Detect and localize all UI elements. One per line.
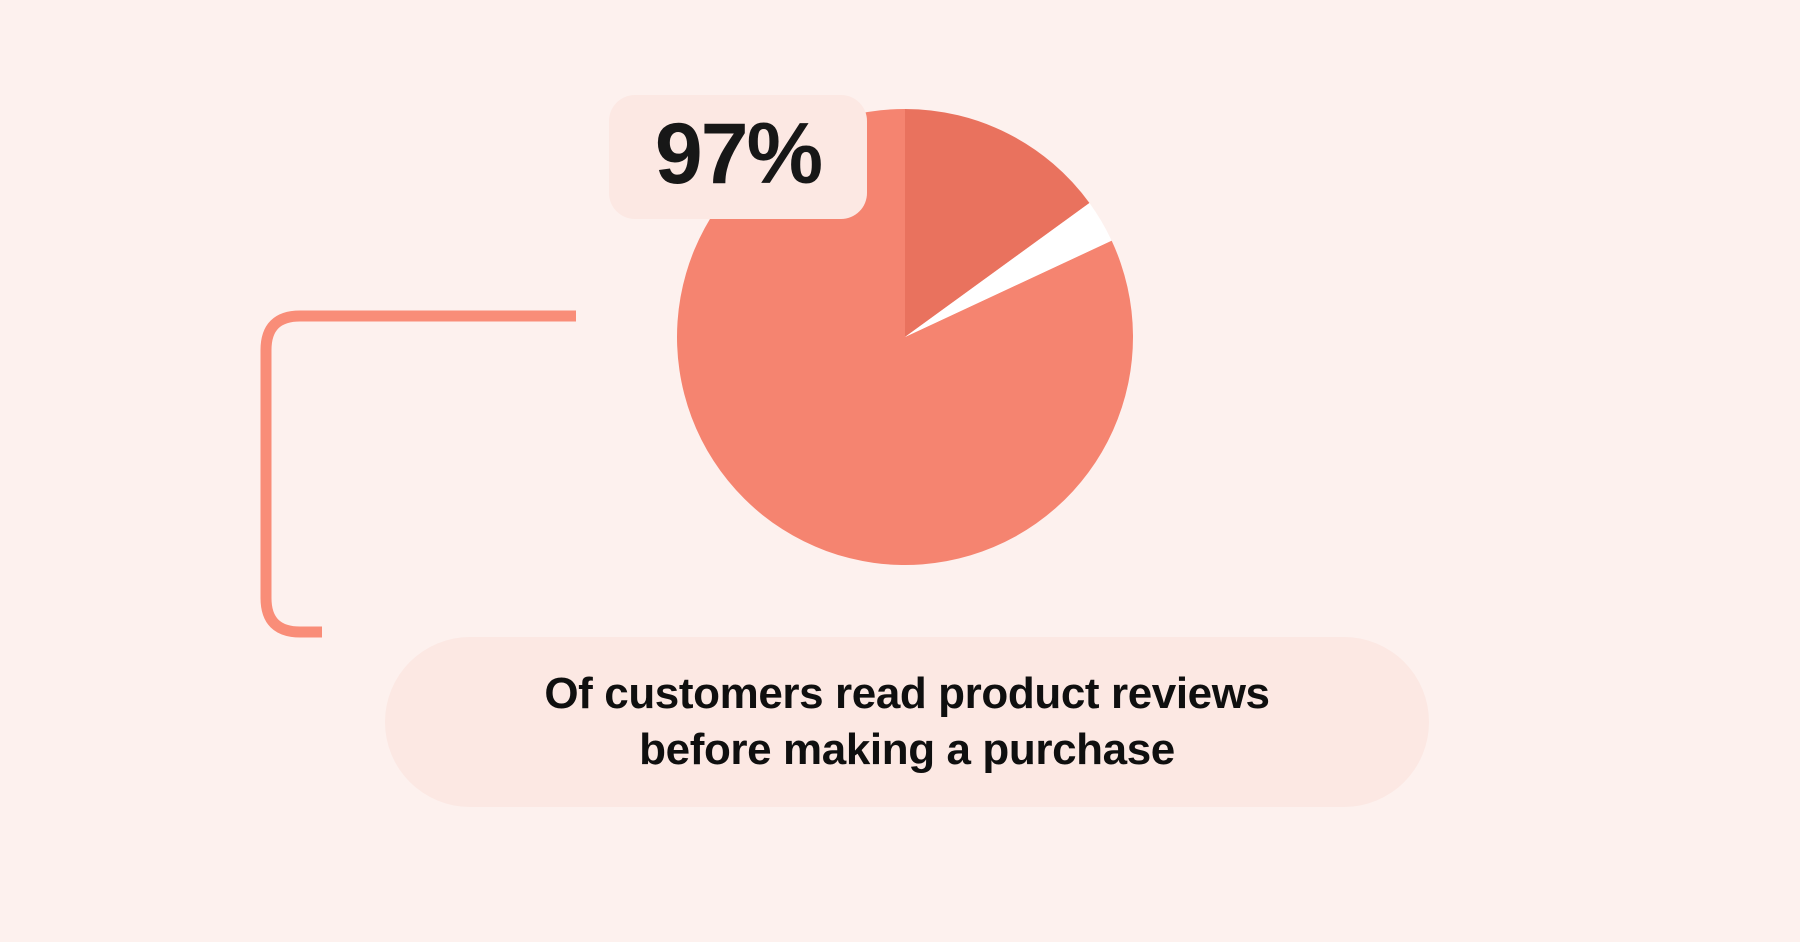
bracket-path-icon <box>266 316 576 632</box>
stat-badge-value: 97% <box>655 111 821 197</box>
caption-line-1: Of customers read product reviews <box>544 666 1269 722</box>
caption-line-2: before making a purchase <box>639 722 1175 778</box>
caption-pill: Of customers read product reviews before… <box>385 637 1429 807</box>
infographic-canvas: 97% Of customers read product reviews be… <box>0 0 1800 942</box>
stat-badge: 97% <box>609 95 867 219</box>
